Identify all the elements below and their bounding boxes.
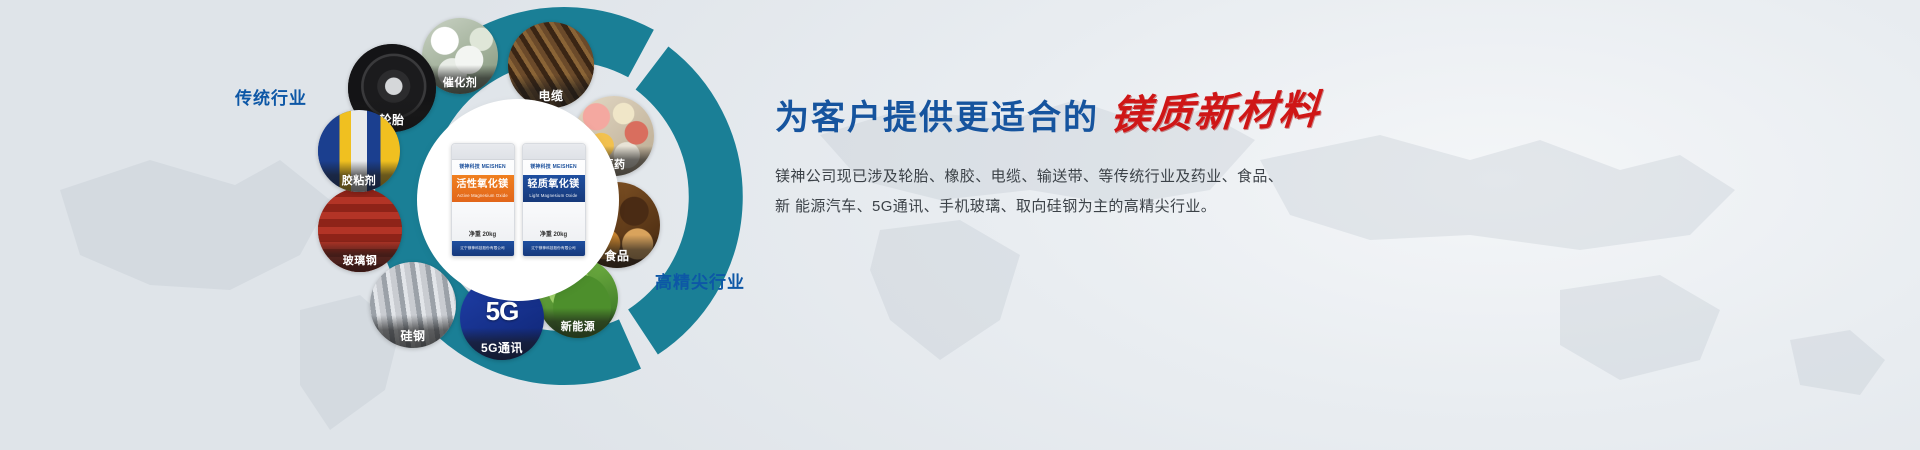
bag-net-weight: 净重 20kg	[469, 229, 496, 238]
bag-footer-text: 辽宁镁神科技股份有限公司	[460, 246, 504, 251]
product-bag-light-mgo[interactable]: 镁神科技 MEISHEN 轻质氧化镁 Light Magnesium Oxide…	[522, 143, 586, 257]
body-copy: 镁神公司现已涉及轮胎、橡胶、电缆、输送带、等传统行业及药业、食品、新 能源汽车、…	[775, 162, 1295, 222]
promo-banner: 传统行业 高精尖行业 催化剂 轮胎 电缆 医药 食品	[0, 0, 1920, 450]
bag-top-seal	[452, 144, 514, 160]
industry-circle-diagram: 传统行业 高精尖行业 催化剂 轮胎 电缆 医药 食品	[300, 0, 820, 450]
bubble-fiberglass[interactable]: 玻璃钢	[318, 188, 402, 272]
banner-copy: 为客户提供更适合的 镁质新材料 镁神公司现已涉及轮胎、橡胶、电缆、输送带、等传统…	[775, 96, 1475, 222]
bubble-silicon-steel[interactable]: 硅钢	[370, 262, 456, 348]
section-label-hightech: 高精尖行业	[655, 268, 745, 293]
bubble-caption: 新能源	[538, 308, 618, 338]
headline-script-text: 镁质新材料	[1109, 90, 1323, 136]
bag-top-seal	[523, 144, 585, 160]
bubble-caption: 玻璃钢	[318, 240, 402, 272]
body-copy-line-2: 能源汽车、5G通讯、手机玻璃、取向硅钢为主的高精尖行业。	[795, 198, 1216, 215]
bag-name-en: Active Magnesium Oxide	[457, 193, 508, 198]
bag-footer-text: 辽宁镁神科技股份有限公司	[531, 246, 575, 251]
bag-name-band: 轻质氧化镁 Light Magnesium Oxide	[523, 175, 585, 202]
bag-brand: 镁神科技 MEISHEN	[530, 163, 577, 170]
bag-brand: 镁神科技 MEISHEN	[459, 163, 506, 170]
section-label-traditional: 传统行业	[235, 84, 307, 109]
center-product-disc: 镁神科技 MEISHEN 活性氧化镁 Active Magnesium Oxid…	[420, 102, 616, 298]
bubble-adhesive[interactable]: 胶粘剂	[318, 110, 400, 192]
headline-blue-text: 为客户提供更适合的	[775, 101, 1099, 135]
bag-name-en: Light Magnesium Oxide	[529, 193, 577, 198]
bag-footer: 辽宁镁神科技股份有限公司	[452, 241, 514, 256]
bag-name-band: 活性氧化镁 Active Magnesium Oxide	[452, 175, 514, 202]
headline: 为客户提供更适合的 镁质新材料	[775, 96, 1475, 136]
bubble-caption: 硅钢	[370, 315, 456, 348]
bubble-caption: 5G通讯	[460, 328, 544, 360]
bag-name-cn: 轻质氧化镁	[528, 179, 580, 191]
bag-net-weight: 净重 20kg	[540, 229, 567, 238]
bag-footer: 辽宁镁神科技股份有限公司	[523, 241, 585, 256]
bubble-caption: 胶粘剂	[318, 161, 400, 192]
bag-name-cn: 活性氧化镁	[457, 179, 509, 191]
product-bag-active-mgo[interactable]: 镁神科技 MEISHEN 活性氧化镁 Active Magnesium Oxid…	[451, 143, 515, 257]
